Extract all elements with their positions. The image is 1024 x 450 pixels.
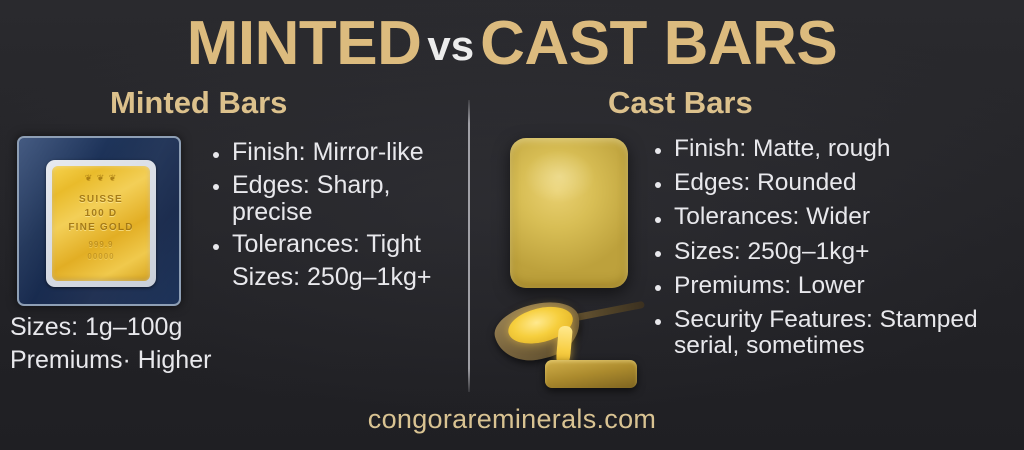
column-heading-minted: Minted Bars [110, 85, 287, 121]
list-item: Premiums· Higher [0, 347, 238, 374]
footer-website-url[interactable]: congorareminerals.com [0, 404, 1024, 435]
list-item: Edges: Rounded [652, 170, 1024, 196]
list-item: Edges: Sharp, precise [210, 172, 460, 226]
list-item-text: Tolerances: Tight [232, 230, 421, 258]
list-item-text: Sizes: 1g–100g [10, 313, 182, 341]
bar-stamp-weight: 100 D [52, 208, 150, 219]
list-item: Sizes: 1g–100g [0, 314, 238, 341]
bullet-dot-icon [655, 217, 661, 223]
column-divider [468, 100, 470, 392]
list-item-text: Finish: Mirror-like [232, 138, 424, 166]
title-left-word: MINTED [187, 9, 422, 78]
bar-stamp-brand: SUISSE [52, 194, 150, 205]
minted-bullet-list: Finish: Mirror-like Edges: Sharp, precis… [210, 139, 460, 297]
minted-bar-image: ❦ ❦ ❦ SUISSE 100 D FINE GOLD 999.9 00000 [17, 136, 181, 306]
bar-stamp-fineness: 999.9 [52, 240, 150, 249]
bullet-dot-icon [213, 244, 219, 250]
list-item-text: Premiums· Higher [10, 346, 211, 374]
list-item-text: Tolerances: Wider [674, 203, 870, 230]
assay-card-package: ❦ ❦ ❦ SUISSE 100 D FINE GOLD 999.9 00000 [17, 136, 181, 306]
crucible-handle [569, 301, 645, 322]
list-item: Sizes: 250g–1kg+ [210, 264, 460, 291]
title-versus-word: vs [421, 22, 480, 69]
bullet-dot-icon [655, 251, 661, 257]
minted-bullet-list-overflow: Sizes: 1g–100g Premiums· Higher [0, 314, 238, 380]
list-item-text: Sizes: 250g–1kg+ [674, 238, 869, 265]
list-item-text: Premiums: Lower [674, 272, 865, 299]
list-item: Tolerances: Wider [652, 204, 1024, 230]
bullet-dot-icon [213, 184, 219, 190]
infographic-canvas: MINTEDvsCAST BARS Minted Bars Cast Bars … [0, 0, 1024, 450]
bullet-dot-icon [655, 285, 661, 291]
gold-ingot-mold [545, 360, 637, 388]
list-item: Security Features: Stamped serial, somet… [652, 307, 1024, 359]
list-item-text: Edges: Sharp, precise [232, 171, 390, 226]
column-heading-cast: Cast Bars [608, 85, 753, 121]
bar-stamp-serial: 00000 [52, 252, 150, 261]
list-item-text: Sizes: 250g–1kg+ [232, 263, 431, 291]
cast-bar-image [510, 138, 628, 288]
list-item: Premiums: Lower [652, 273, 1024, 299]
bullet-dot-icon [655, 319, 661, 325]
list-item: Finish: Matte, rough [652, 136, 1024, 162]
cast-bar-highlight [524, 150, 595, 203]
cast-bullet-list: Finish: Matte, rough Edges: Rounded Tole… [652, 136, 1024, 367]
bullet-dot-icon [213, 152, 219, 158]
assay-card-window: ❦ ❦ ❦ SUISSE 100 D FINE GOLD 999.9 00000 [46, 160, 156, 287]
list-item: Sizes: 250g–1kg+ [652, 239, 1024, 265]
bullet-dot-icon [655, 182, 661, 188]
page-title: MINTEDvsCAST BARS [0, 8, 1024, 79]
bullet-dot-icon [655, 148, 661, 154]
minted-gold-bar: ❦ ❦ ❦ SUISSE 100 D FINE GOLD 999.9 00000 [52, 166, 150, 281]
list-item: Tolerances: Tight [210, 231, 460, 258]
molten-gold-pour-image [485, 292, 660, 397]
list-item-text: Finish: Matte, rough [674, 135, 891, 162]
list-item-text: Security Features: Stamped serial, somet… [674, 306, 978, 359]
list-item: Finish: Mirror-like [210, 139, 460, 166]
list-item-text: Edges: Rounded [674, 169, 857, 196]
mint-emblem-icon: ❦ ❦ ❦ [52, 173, 150, 184]
title-right-word: CAST BARS [480, 9, 837, 78]
bar-stamp-purity-text: FINE GOLD [52, 222, 150, 233]
